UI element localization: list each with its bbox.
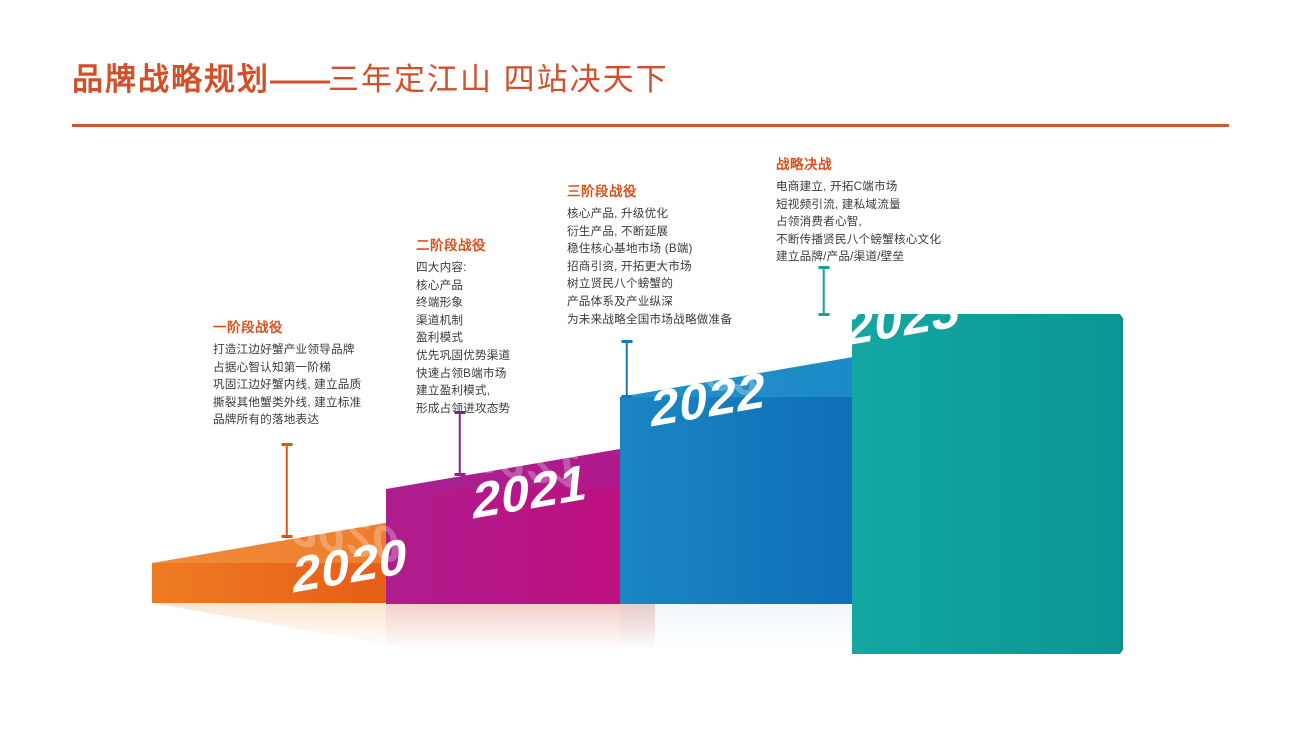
connector-cap-top xyxy=(281,443,292,446)
step-3-connector xyxy=(621,340,632,398)
step-2-connector xyxy=(454,411,465,476)
callout-line: 巩固江边好蟹内线, 建立品质 xyxy=(213,376,361,394)
callout-line: 盈利模式 xyxy=(416,329,510,347)
connector-cap-bottom xyxy=(818,313,829,316)
callout-line: 为未来战略全国市场战略做准备 xyxy=(567,311,732,329)
callout-line: 占据心智认知第一阶梯 xyxy=(213,359,361,377)
callout-line: 优先巩固优势渠道 xyxy=(416,347,510,365)
callout-stage-2: 二阶段战役 四大内容: 核心产品 终端形象 渠道机制 盈利模式 优先巩固优势渠道… xyxy=(416,234,510,417)
connector-cap-top xyxy=(818,266,829,269)
callout-line: 打造江边好蟹产业领导品牌 xyxy=(213,341,361,359)
callout-heading: 二阶段战役 xyxy=(416,234,510,254)
callout-line: 渠道机制 xyxy=(416,312,510,330)
connector-cap-top xyxy=(621,340,632,343)
callout-line: 撕裂其他蟹类外线, 建立标准 xyxy=(213,394,361,412)
connector-cap-bottom xyxy=(454,473,465,476)
connector-cap-bottom xyxy=(621,395,632,398)
callout-line: 稳住核心基地市场 (B端) xyxy=(567,240,732,258)
callout-line: 短视频引流, 建私域流量 xyxy=(776,196,941,214)
connector-cap-bottom xyxy=(281,535,292,538)
callout-line: 品牌所有的落地表达 xyxy=(213,411,361,429)
connector-stem xyxy=(458,411,461,476)
callout-line: 建立品牌/产品/渠道/壁垒 xyxy=(776,248,941,266)
callout-line: 产品体系及产业纵深 xyxy=(567,293,732,311)
callout-line: 不断传播贤民八个螃蟹核心文化 xyxy=(776,231,941,249)
callout-stage-4: 战略决战 电商建立, 开拓C端市场 短视频引流, 建私域流量 占领消费者心智, … xyxy=(776,153,941,266)
callout-line: 四大内容: xyxy=(416,259,510,277)
callout-line: 树立贤民八个螃蟹的 xyxy=(567,275,732,293)
step-4-connector xyxy=(818,266,829,316)
callout-line: 终端形象 xyxy=(416,294,510,312)
callout-line: 占领消费者心智, xyxy=(776,213,941,231)
connector-stem xyxy=(822,266,825,316)
step-4-front-face xyxy=(852,314,1120,654)
callout-line: 建立盈利模式, xyxy=(416,382,510,400)
callout-heading: 三阶段战役 xyxy=(567,180,732,200)
callout-line: 核心产品 xyxy=(416,277,510,295)
callout-line: 衍生产品, 不断延展 xyxy=(567,223,732,241)
callout-line: 电商建立, 开拓C端市场 xyxy=(776,178,941,196)
step-4-side-face xyxy=(1120,314,1123,654)
callout-line: 快速占领B端市场 xyxy=(416,365,510,383)
callout-line: 形成占领进攻态势 xyxy=(416,400,510,418)
callout-stage-1: 一阶段战役 打造江边好蟹产业领导品牌 占据心智认知第一阶梯 巩固江边好蟹内线, … xyxy=(213,316,361,429)
connector-stem xyxy=(285,443,288,538)
callout-line: 核心产品, 升级优化 xyxy=(567,205,732,223)
callout-line: 招商引资, 开拓更大市场 xyxy=(567,258,732,276)
infographic-page: 品牌战略规划——三年定江山 四站决天下 xyxy=(0,0,1300,731)
staircase-diagram: 2020 2020 2021 2021 2022 2022 2023 2023 xyxy=(0,0,1300,731)
step-4-block xyxy=(852,314,1123,654)
callout-heading: 一阶段战役 xyxy=(213,316,361,336)
connector-stem xyxy=(625,340,628,398)
callout-heading: 战略决战 xyxy=(776,153,941,173)
step-1-connector xyxy=(281,443,292,538)
callout-stage-3: 三阶段战役 核心产品, 升级优化 衍生产品, 不断延展 稳住核心基地市场 (B端… xyxy=(567,180,732,328)
